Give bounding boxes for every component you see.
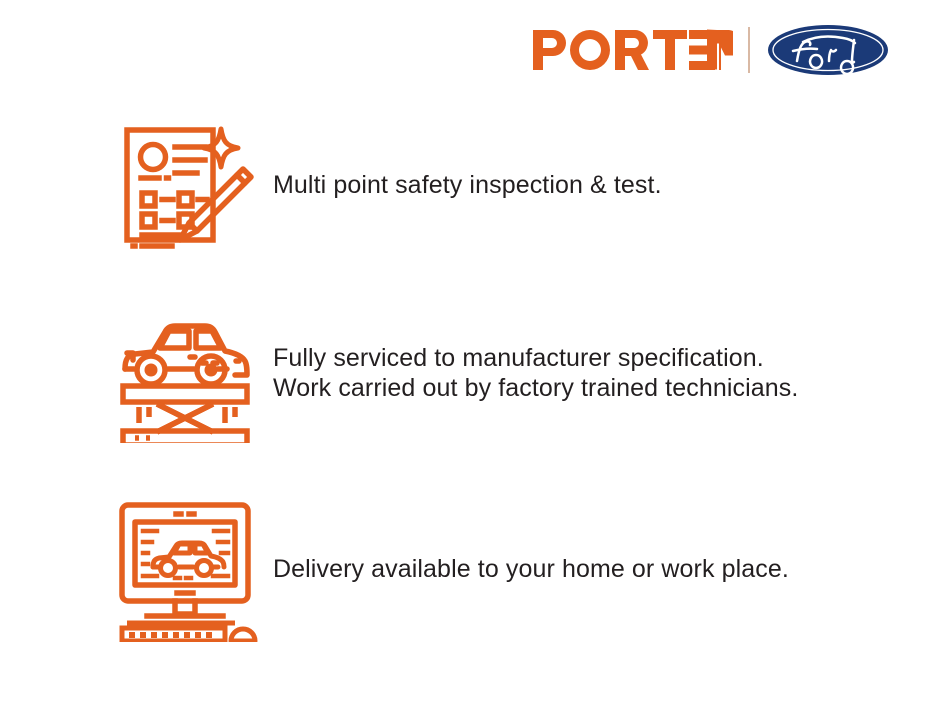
logo-divider <box>748 27 750 73</box>
slide-canvas: Multi point safety inspection & test. <box>0 0 938 704</box>
feature-row: Fully serviced to manufacturer specifica… <box>110 303 798 443</box>
feature-row: Multi point safety inspection & test. <box>110 115 662 255</box>
feature-text: Delivery available to your home or work … <box>273 554 789 585</box>
ford-logo <box>767 23 889 77</box>
feature-row: Delivery available to your home or work … <box>110 497 789 642</box>
clipboard-checklist-pencil-icon <box>110 115 260 255</box>
brand-logo-lockup <box>533 22 889 78</box>
car-on-scissor-lift-icon <box>110 303 260 443</box>
desktop-computer-car-icon <box>110 497 260 642</box>
porter-wordmark <box>533 28 733 72</box>
feature-text: Fully serviced to manufacturer specifica… <box>273 343 798 404</box>
feature-text: Multi point safety inspection & test. <box>273 170 662 201</box>
